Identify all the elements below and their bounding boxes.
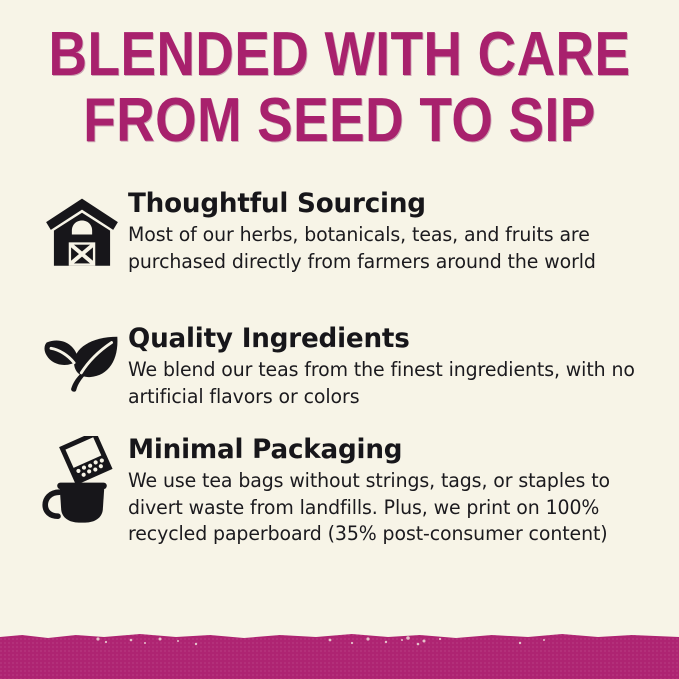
feature-item-quality-ingredients: Quality Ingredients We blend our teas fr… [0, 323, 679, 410]
leaves-icon [34, 323, 130, 393]
feature-item-thoughtful-sourcing: Thoughtful Sourcing Most of our herbs, b… [0, 188, 679, 275]
bottom-accent-band [0, 634, 679, 679]
feature-body: Most of our herbs, botanicals, teas, and… [128, 222, 635, 275]
headline-line-2: FROM SEED TO SIP [48, 88, 632, 154]
feature-title: Quality Ingredients [128, 323, 635, 355]
infographic-page: BLENDED WITH CARE FROM SEED TO SIP [0, 0, 679, 679]
feature-item-minimal-packaging: Minimal Packaging We use tea bags withou… [0, 434, 679, 548]
band-speckles [0, 634, 679, 650]
teabag-mug-icon [34, 434, 130, 526]
feature-title: Minimal Packaging [128, 434, 635, 466]
headline-line-1: BLENDED WITH CARE [48, 22, 632, 88]
page-title: BLENDED WITH CARE FROM SEED TO SIP [0, 22, 679, 154]
feature-list: Thoughtful Sourcing Most of our herbs, b… [0, 188, 679, 476]
feature-text-block: Thoughtful Sourcing Most of our herbs, b… [128, 188, 679, 275]
feature-text-block: Quality Ingredients We blend our teas fr… [128, 323, 679, 410]
feature-body: We blend our teas from the finest ingred… [128, 357, 635, 410]
feature-text-block: Minimal Packaging We use tea bags withou… [128, 434, 679, 548]
barn-icon [34, 188, 130, 272]
feature-title: Thoughtful Sourcing [128, 188, 635, 220]
feature-body: We use tea bags without strings, tags, o… [128, 468, 635, 548]
